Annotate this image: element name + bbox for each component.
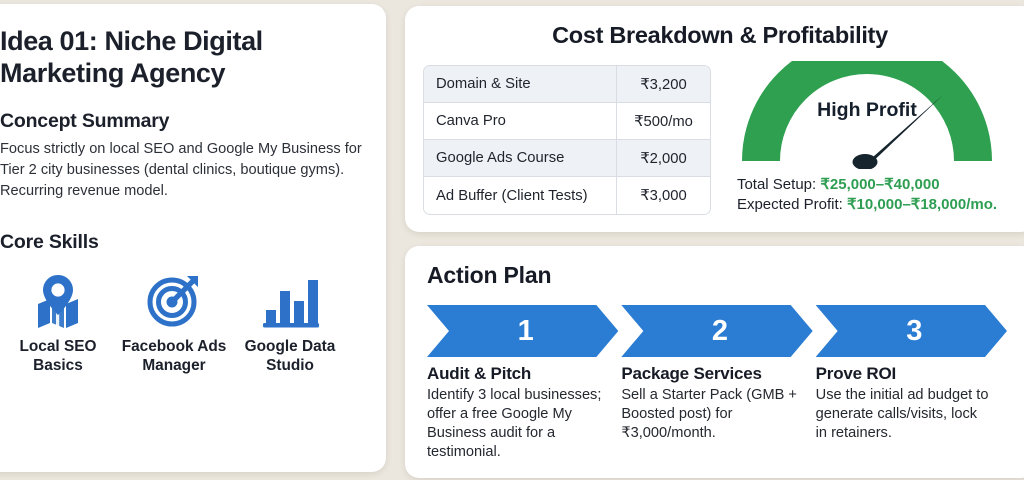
action-step-1: 1 Audit & Pitch Identify 3 local busines… (427, 305, 618, 462)
cost-table: Domain & Site ₹3,200 Canva Pro ₹500/mo G… (423, 65, 711, 215)
concept-summary-heading: Concept Summary (0, 110, 368, 133)
skill-item-local-seo: Local SEO Basics (0, 272, 116, 375)
step-title: Package Services (621, 364, 812, 384)
step-title: Audit & Pitch (427, 364, 618, 384)
skill-item-google-data-studio: Google Data Studio (232, 272, 348, 375)
total-setup-label: Total Setup: (737, 176, 820, 193)
table-row: Domain & Site ₹3,200 (424, 66, 710, 103)
expected-profit-label: Expected Profit: (737, 196, 847, 213)
gauge-label: High Profit (817, 99, 917, 121)
cost-item-label: Canva Pro (424, 103, 617, 140)
step-chevron-arrow: 2 (621, 305, 812, 357)
table-row: Canva Pro ₹500/mo (424, 103, 710, 140)
cost-breakdown-body: Domain & Site ₹3,200 Canva Pro ₹500/mo G… (423, 65, 1017, 215)
cost-item-label: Ad Buffer (Client Tests) (424, 177, 617, 213)
bar-chart-icon (261, 272, 319, 328)
skill-label: Local SEO Basics (0, 337, 116, 375)
gauge-icon: High Profit (741, 61, 993, 169)
action-step-2: 2 Package Services Sell a Starter Pack (… (621, 305, 812, 462)
cost-breakdown-title: Cost Breakdown & Profitability (423, 22, 1017, 49)
step-description: Use the initial ad budget to generate ca… (816, 386, 992, 443)
cost-item-label: Domain & Site (424, 66, 617, 103)
concept-summary-text: Focus strictly on local SEO and Google M… (0, 139, 368, 201)
action-plan-steps: 1 Audit & Pitch Identify 3 local busines… (427, 305, 1017, 462)
cost-item-amount: ₹2,000 (617, 140, 710, 177)
step-chevron-arrow: 1 (427, 305, 618, 357)
cost-item-amount: ₹3,000 (617, 177, 710, 213)
step-number: 3 (900, 317, 922, 346)
total-setup-value: ₹25,000–₹40,000 (820, 176, 939, 193)
profit-summary: Total Setup: ₹25,000–₹40,000 Expected Pr… (737, 175, 997, 215)
step-title: Prove ROI (816, 364, 1007, 384)
cost-item-amount: ₹500/mo (617, 103, 710, 140)
action-step-3: 3 Prove ROI Use the initial ad budget to… (816, 305, 1007, 462)
step-chevron-arrow: 3 (816, 305, 1007, 357)
cost-item-amount: ₹3,200 (617, 66, 710, 103)
core-skills-list: Local SEO Basics Facebook Ads Manager (0, 272, 368, 375)
expected-profit-line: Expected Profit: ₹10,000–₹18,000/mo. (737, 195, 997, 215)
action-plan-card: Action Plan 1 Audit & Pitch Identify 3 l… (405, 246, 1024, 478)
cost-breakdown-card: Cost Breakdown & Profitability Domain & … (405, 6, 1024, 232)
table-row: Ad Buffer (Client Tests) ₹3,000 (424, 177, 710, 213)
target-bullseye-arrow-icon (146, 272, 202, 328)
page-title: Idea 01: Niche Digital Marketing Agency (0, 26, 368, 89)
step-description: Identify 3 local businesses; offer a fre… (427, 386, 603, 462)
step-number: 1 (512, 317, 534, 346)
idea-card: Idea 01: Niche Digital Marketing Agency … (0, 4, 386, 472)
profitability-gauge: High Profit Total Setup: ₹25,000–₹40,000… (711, 61, 1017, 215)
action-plan-title: Action Plan (427, 262, 1017, 289)
core-skills-heading: Core Skills (0, 231, 368, 254)
skill-item-facebook-ads: Facebook Ads Manager (116, 272, 232, 375)
total-setup-line: Total Setup: ₹25,000–₹40,000 (737, 175, 997, 195)
map-pin-location-icon (30, 272, 86, 328)
expected-profit-value: ₹10,000–₹18,000/mo. (847, 196, 997, 213)
cost-item-label: Google Ads Course (424, 140, 617, 177)
skill-label: Google Data Studio (232, 337, 348, 375)
skill-label: Facebook Ads Manager (116, 337, 232, 375)
table-row: Google Ads Course ₹2,000 (424, 140, 710, 177)
step-number: 2 (706, 317, 728, 346)
step-description: Sell a Starter Pack (GMB + Boosted post)… (621, 386, 797, 443)
